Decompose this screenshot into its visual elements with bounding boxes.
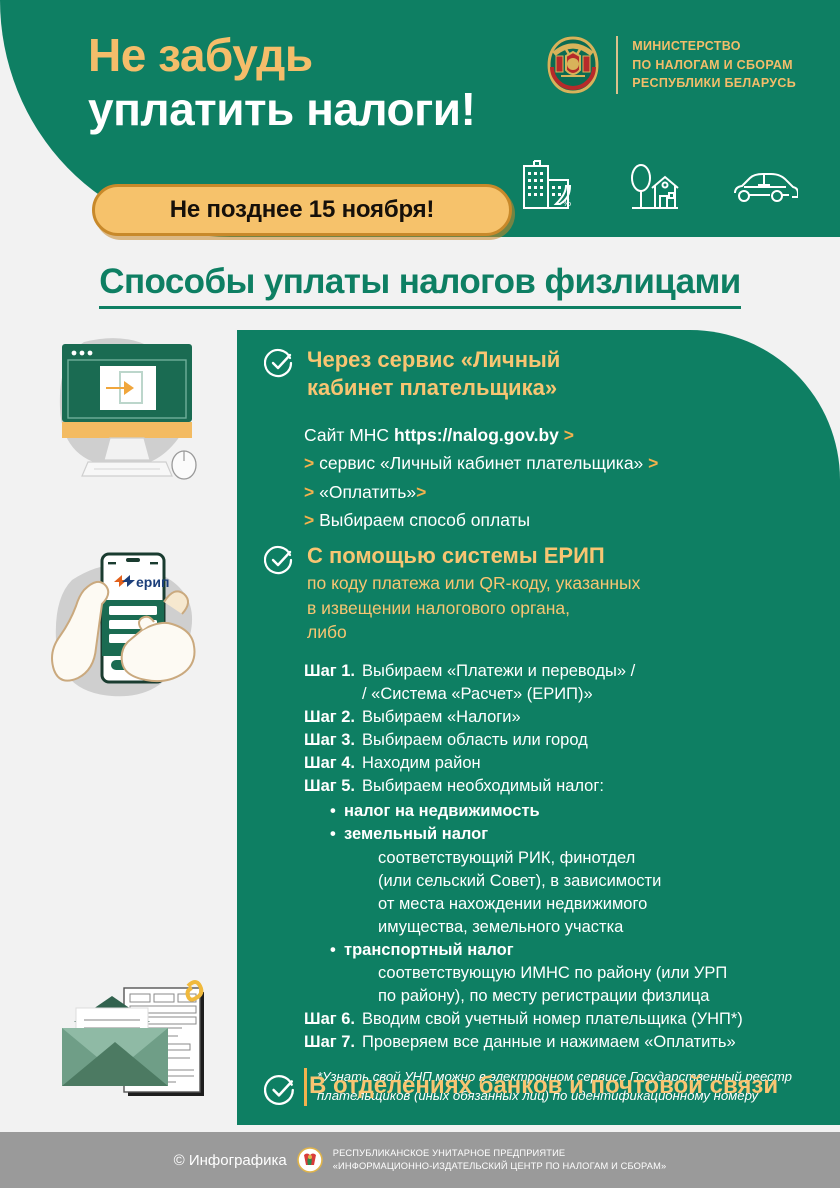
method-block-banks: В отделениях банков и почтовой связи: [237, 1072, 840, 1106]
block1-step-3-text: Выбираем способ оплаты: [319, 510, 530, 530]
ministry-line-3: РЕСПУБЛИКИ БЕЛАРУСЬ: [632, 74, 796, 93]
mail-notice-illustration: [40, 978, 230, 1113]
footer-bar: © Инфографика РЕСПУБЛИКАНСКОЕ УНИТАРНОЕ …: [0, 1132, 840, 1188]
ministry-divider: [616, 36, 618, 94]
header-icon-row: %: [518, 158, 798, 214]
svg-text:ерип: ерип: [136, 574, 169, 590]
svg-text:%: %: [563, 198, 571, 208]
title-line-1: Не забудь: [88, 32, 475, 78]
chevron-icon: >: [304, 453, 314, 473]
step-label: Шаг 7.: [304, 1031, 362, 1054]
block2-subtitle: по коду платежа или QR-коду, указанных в…: [307, 571, 640, 643]
method-block-erip: С помощью системы ЕРИП по коду платежа и…: [237, 543, 840, 1106]
infographic-page: Не забудь уплатить налоги! МИНИСТЕРСТВО …: [0, 0, 840, 1188]
erip-step: Шаг 5. Выбираем необходимый налог:: [304, 775, 840, 798]
tax-desc-line: соответствующий РИК, финотдел: [378, 847, 840, 870]
publisher-name: РЕСПУБЛИКАНСКОЕ УНИТАРНОЕ ПРЕДПРИЯТИЕ «И…: [333, 1147, 667, 1174]
block1-step-3: > Выбираем способ оплаты: [304, 506, 840, 534]
tax-name: транспортный налог: [344, 939, 514, 962]
method-block-lk: Через сервис «Личный кабинет плательщика…: [237, 346, 840, 534]
block2-sub-line-3: либо: [307, 620, 640, 644]
check-circle-icon: [264, 545, 294, 575]
tax-desc-line: имущества, земельного участка: [378, 916, 840, 939]
step-text: Выбираем «Платежи и переводы» /: [362, 660, 840, 683]
section-title: Способы уплаты налогов физлицами: [99, 262, 740, 309]
payment-methods-panel: Через сервис «Личный кабинет плательщика…: [237, 330, 840, 1125]
tax-desc-line: (или сельский Совет), в зависимости: [378, 870, 840, 893]
ministry-branding: МИНИСТЕРСТВО ПО НАЛОГАМ И СБОРАМ РЕСПУБЛ…: [544, 34, 796, 96]
hands-holding-phone-erip-icon: ерип: [44, 532, 224, 732]
block1-title-line-2: кабинет плательщика»: [307, 374, 560, 402]
tax-desc-line: от места нахождении недвижимого: [378, 893, 840, 916]
step-label: Шаг 5.: [304, 775, 362, 798]
step-text: Проверяем все данные и нажимаем «Оплатит…: [362, 1031, 840, 1054]
block1-site-line: Сайт МНС https://nalog.gov.by >: [304, 421, 840, 449]
block1-step-2-text: «Оплатить»: [319, 482, 416, 502]
step-text: Выбираем область или город: [362, 729, 840, 752]
block1-title-line-1: Через сервис «Личный: [307, 346, 560, 374]
page-title: Не забудь уплатить налоги!: [88, 32, 475, 132]
tax-description: соответствующую ИМНС по району (или УРП …: [378, 962, 840, 1008]
tax-desc-line: соответствующую ИМНС по району (или УРП: [378, 962, 840, 985]
erip-step: Шаг 2. Выбираем «Налоги»: [304, 706, 840, 729]
step-label: Шаг 6.: [304, 1008, 362, 1031]
step-text: Выбираем необходимый налог:: [362, 775, 840, 798]
bullet-icon: •: [330, 800, 344, 823]
house-tree-icon: [624, 158, 686, 214]
step-label: Шаг 3.: [304, 729, 362, 752]
block2-sub-line-2: в извещении налогового органа,: [307, 596, 640, 620]
tax-name: налог на недвижимость: [344, 800, 540, 823]
erip-step: Шаг 4. Находим район: [304, 752, 840, 775]
tax-type-list: • налог на недвижимость • земельный нало…: [330, 800, 840, 1008]
block2-sub-line-1: по коду платежа или QR-коду, указанных: [307, 571, 640, 595]
site-url[interactable]: https://nalog.gov.by: [394, 425, 559, 445]
erip-step: Шаг 7. Проверяем все данные и нажимаем «…: [304, 1031, 840, 1054]
bullet-icon: •: [330, 939, 344, 962]
erip-step: Шаг 1. Выбираем «Платежи и переводы» /: [304, 660, 840, 683]
office-building-percent-icon: %: [518, 158, 580, 214]
section-title-container: Способы уплаты налогов физлицами: [0, 262, 840, 309]
footer-copyright: © Инфографика: [174, 1152, 287, 1169]
phone-erip-illustration: ерип: [44, 532, 224, 737]
step-text: Вводим свой учетный номер плательщика (У…: [362, 1008, 840, 1031]
deadline-text: Не позднее 15 ноября!: [170, 196, 434, 224]
publisher-line-2: «ИНФОРМАЦИОННО-ИЗДАТЕЛЬСКИЙ ЦЕНТР ПО НАЛ…: [333, 1160, 667, 1173]
erip-step-list: Шаг 1. Выбираем «Платежи и переводы» / /…: [304, 660, 840, 1055]
desktop-monitor-login-icon: [44, 332, 224, 507]
envelope-with-notice-icon: [40, 978, 230, 1108]
step-text: Находим район: [362, 752, 840, 775]
block3-title: В отделениях банков и почтовой связи: [309, 1072, 778, 1100]
title-line-2: уплатить налоги!: [88, 86, 475, 132]
chevron-icon: >: [304, 510, 314, 530]
car-icon: [730, 163, 798, 209]
belarus-tax-ministry-emblem-icon: [544, 34, 602, 96]
publisher-line-1: РЕСПУБЛИКАНСКОЕ УНИТАРНОЕ ПРЕДПРИЯТИЕ: [333, 1147, 667, 1160]
deadline-badge: Не позднее 15 ноября!: [92, 184, 512, 236]
check-circle-icon: [264, 1074, 296, 1106]
tax-name: земельный налог: [344, 823, 488, 846]
tax-list-item: • земельный налог: [330, 823, 840, 846]
block2-title: С помощью системы ЕРИП: [307, 543, 640, 569]
tax-list-item: • налог на недвижимость: [330, 800, 840, 823]
bullet-icon: •: [330, 823, 344, 846]
chevron-icon: >: [416, 482, 426, 502]
step-text: Выбираем «Налоги»: [362, 706, 840, 729]
desktop-monitor-illustration: [44, 332, 224, 512]
erip-step: Шаг 6. Вводим свой учетный номер платель…: [304, 1008, 840, 1031]
publisher-logo-icon: [297, 1147, 323, 1173]
ministry-line-1: МИНИСТЕРСТВО: [632, 37, 796, 56]
header-banner: Не забудь уплатить налоги! МИНИСТЕРСТВО …: [0, 0, 840, 237]
tax-list-item: • транспортный налог: [330, 939, 840, 962]
block1-step-list: Сайт МНС https://nalog.gov.by > > сервис…: [304, 421, 840, 534]
site-prefix-label: Сайт МНС: [304, 425, 389, 445]
step-label: Шаг 2.: [304, 706, 362, 729]
step-label: Шаг 4.: [304, 752, 362, 775]
check-circle-icon: [264, 348, 294, 378]
chevron-icon: >: [648, 453, 658, 473]
block1-step-1: > сервис «Личный кабинет плательщика» >: [304, 449, 840, 477]
block1-step-2: > «Оплатить»>: [304, 478, 840, 506]
erip-step: Шаг 3. Выбираем область или город: [304, 729, 840, 752]
ministry-name: МИНИСТЕРСТВО ПО НАЛОГАМ И СБОРАМ РЕСПУБЛ…: [632, 37, 796, 93]
tax-description: соответствующий РИК, финотдел (или сельс…: [378, 847, 840, 939]
tax-desc-line: по району), по месту регистрации физлица: [378, 985, 840, 1008]
erip-step-continuation: / «Система «Расчет» (ЕРИП)»: [362, 683, 840, 706]
chevron-icon: >: [304, 482, 314, 502]
step-label: Шаг 1.: [304, 660, 362, 683]
ministry-line-2: ПО НАЛОГАМ И СБОРАМ: [632, 56, 796, 75]
chevron-icon: >: [564, 425, 574, 445]
block1-step-1-text: сервис «Личный кабинет плательщика»: [319, 453, 643, 473]
